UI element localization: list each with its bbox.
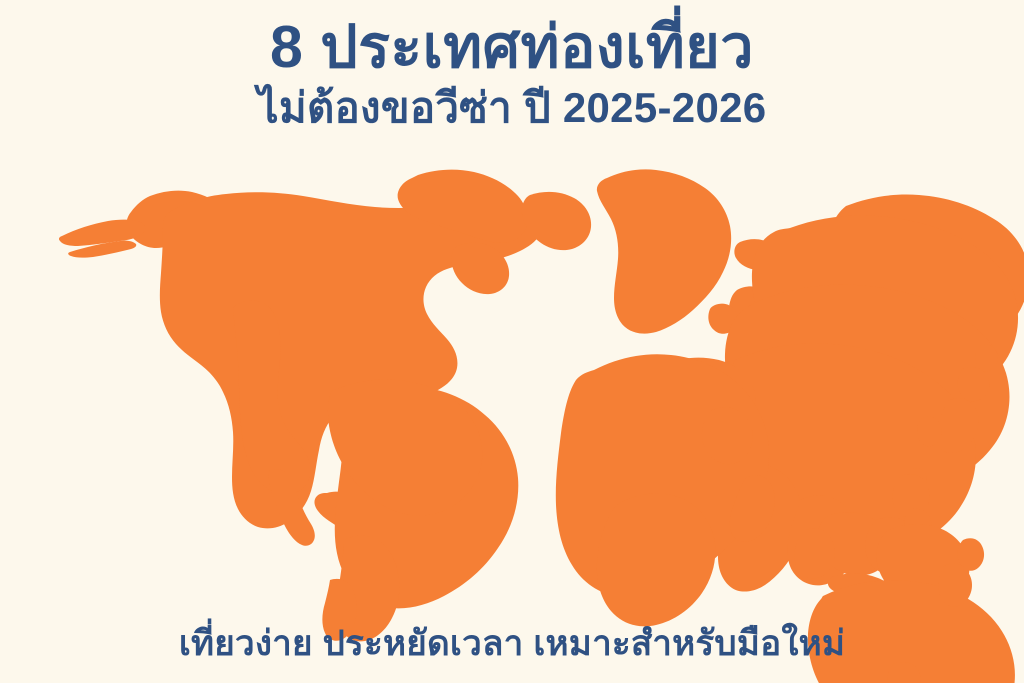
region-sakhalin — [975, 345, 998, 372]
footer-block: เที่ยวง่าย ประหยัดเวลา เหมาะสำหรับมือใหม… — [0, 623, 1024, 665]
footer-tagline: เที่ยวง่าย ประหยัดเวลา เหมาะสำหรับมือใหม… — [0, 623, 1024, 665]
page-title: 8 ประเทศท่องเที่ยว — [0, 14, 1024, 80]
headline-block: 8 ประเทศท่องเที่ยว ไม่ต้องขอวีซ่า ปี 202… — [0, 14, 1024, 132]
page-subtitle: ไม่ต้องขอวีซ่า ปี 2025-2026 — [0, 84, 1024, 132]
poster-canvas: 8 ประเทศท่องเที่ยว ไม่ต้องขอวีซ่า ปี 202… — [0, 0, 1024, 683]
region-africa-southern — [597, 493, 716, 626]
